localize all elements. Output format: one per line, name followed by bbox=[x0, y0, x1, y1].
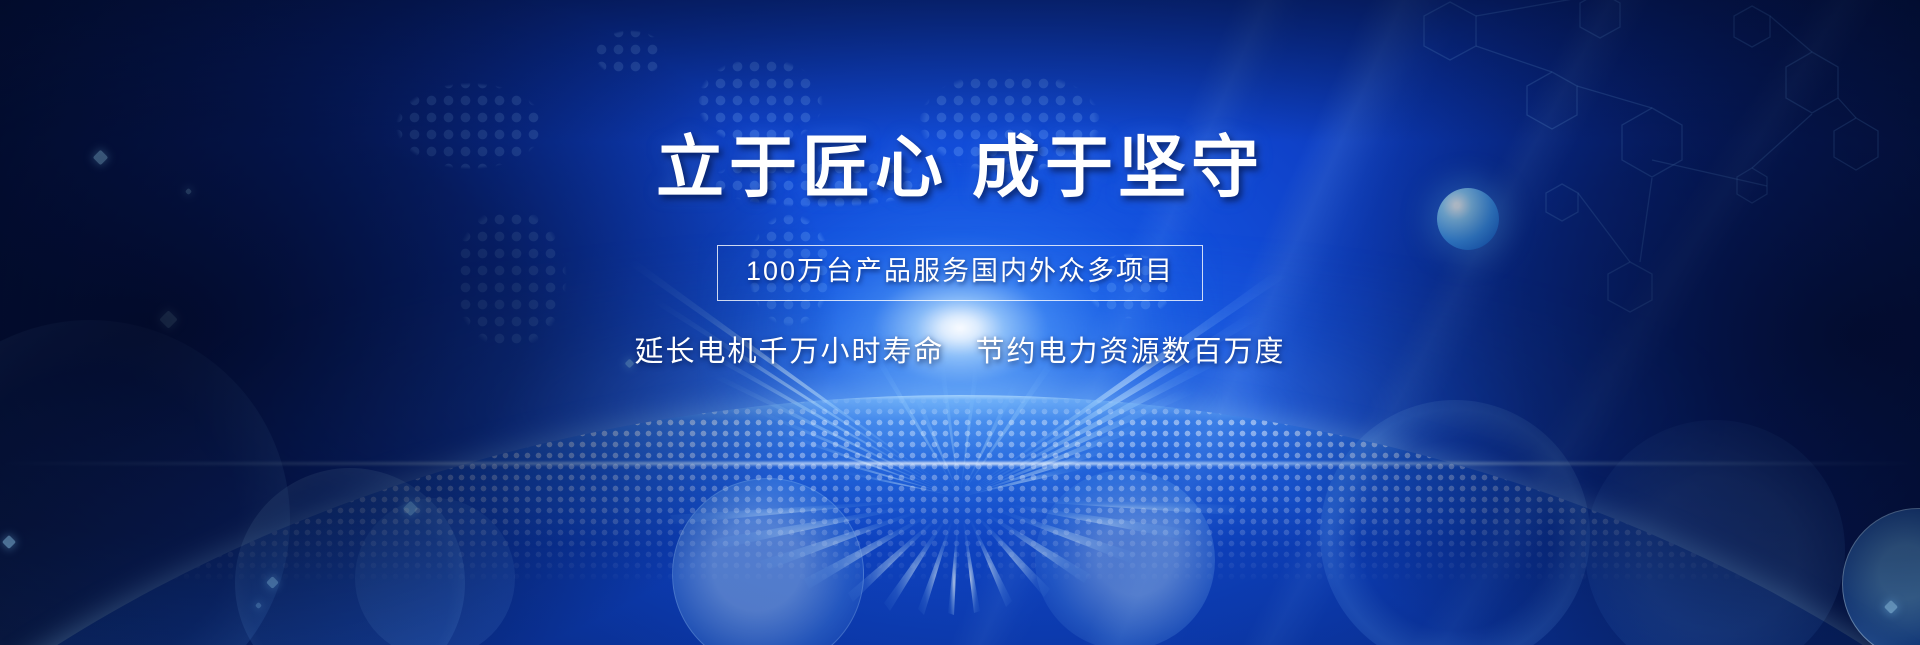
highlight-badge: 100万台产品服务国内外众多项目 bbox=[717, 245, 1203, 301]
banner-headline: 立于匠心 成于坚守 bbox=[656, 134, 1264, 202]
hero-banner: 立于匠心 成于坚守 100万台产品服务国内外众多项目 延长电机千万小时寿命 节约… bbox=[0, 0, 1920, 645]
banner-content: 立于匠心 成于坚守 100万台产品服务国内外众多项目 延长电机千万小时寿命 节约… bbox=[0, 0, 1920, 645]
highlight-badge-text: 100万台产品服务国内外众多项目 bbox=[746, 257, 1174, 287]
banner-tagline: 延长电机千万小时寿命 节约电力资源数百万度 bbox=[634, 328, 1285, 370]
